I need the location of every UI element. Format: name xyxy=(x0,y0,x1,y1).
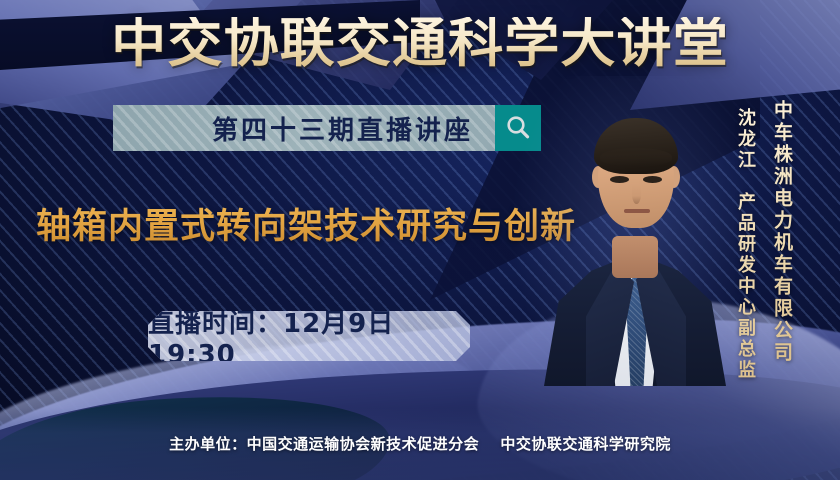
page-title: 中交协联交通科学大讲堂 xyxy=(0,17,840,70)
speaker-company: 中车株洲电力机车有限公司 xyxy=(769,100,796,364)
portrait-neck xyxy=(612,236,658,278)
portrait-eye-left xyxy=(610,176,629,183)
speaker-name-title: 沈龙江 产品研发中心副总监 xyxy=(732,108,758,381)
live-lecture-poster: 中交协联交通科学大讲堂 第四十三期直播讲座 轴箱内置式转向架技术研究与创新 直播… xyxy=(0,0,840,480)
lecture-topic: 轴箱内置式转向架技术研究与创新 xyxy=(36,198,576,249)
issue-banner-background: 第四十三期直播讲座 xyxy=(113,105,495,151)
broadcast-time-text: 直播时间：12月9日19:30 xyxy=(148,311,470,361)
search-icon xyxy=(504,114,532,142)
footer-organizers: 主办单位：中国交通运输协会新技术促进分会 中交协联交通科学研究院 xyxy=(0,433,840,454)
issue-banner: 第四十三期直播讲座 xyxy=(113,105,541,151)
broadcast-time-plate: 直播时间：12月9日19:30 xyxy=(148,311,470,361)
portrait-mouth xyxy=(624,209,650,213)
portrait-hair xyxy=(594,118,678,174)
speaker-portrait xyxy=(540,96,730,386)
portrait-nose xyxy=(632,184,641,204)
search-icon-box xyxy=(495,105,541,151)
portrait-eye-right xyxy=(643,176,662,183)
issue-banner-label: 第四十三期直播讲座 xyxy=(212,110,495,147)
